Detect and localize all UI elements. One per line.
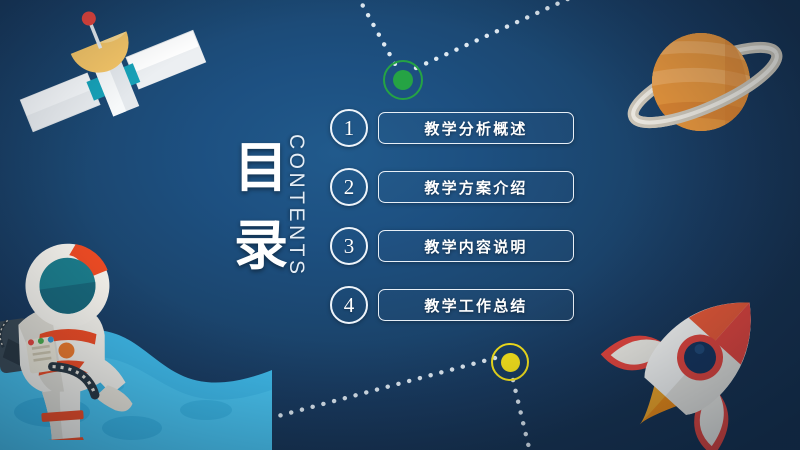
yellow-node-icon — [491, 343, 529, 381]
list-item[interactable]: 4 教学工作总结 — [330, 283, 574, 327]
rocket-icon — [596, 274, 796, 450]
saturn-planet-icon — [615, 14, 795, 156]
yellow-node-core — [501, 353, 520, 372]
dotline-bottom-down — [513, 380, 530, 450]
satellite-icon — [8, 6, 218, 156]
item-label-4[interactable]: 教学工作总结 — [378, 289, 574, 321]
dotline-top-left — [352, 0, 395, 64]
contents-slide: 目 录 CONTENTS 1 教学分析概述 2 教学方案介绍 3 教学内容说明 … — [0, 0, 800, 450]
item-label-3[interactable]: 教学内容说明 — [378, 230, 574, 262]
dotline-top-right — [416, 0, 592, 68]
list-item[interactable]: 1 教学分析概述 — [330, 106, 574, 150]
item-number-2[interactable]: 2 — [330, 168, 368, 206]
item-number-4[interactable]: 4 — [330, 286, 368, 324]
page-title: 目 录 CONTENTS — [222, 128, 327, 298]
title-english: CONTENTS — [284, 134, 308, 278]
item-number-3[interactable]: 3 — [330, 227, 368, 265]
green-node-icon — [383, 60, 423, 100]
green-node-core — [393, 70, 413, 90]
astronaut-icon — [0, 236, 174, 440]
item-label-1[interactable]: 教学分析概述 — [378, 112, 574, 144]
item-label-2[interactable]: 教学方案介绍 — [378, 171, 574, 203]
item-number-1[interactable]: 1 — [330, 109, 368, 147]
list-item[interactable]: 3 教学内容说明 — [330, 224, 574, 268]
contents-list: 1 教学分析概述 2 教学方案介绍 3 教学内容说明 4 教学工作总结 — [330, 106, 574, 342]
list-item[interactable]: 2 教学方案介绍 — [330, 165, 574, 209]
